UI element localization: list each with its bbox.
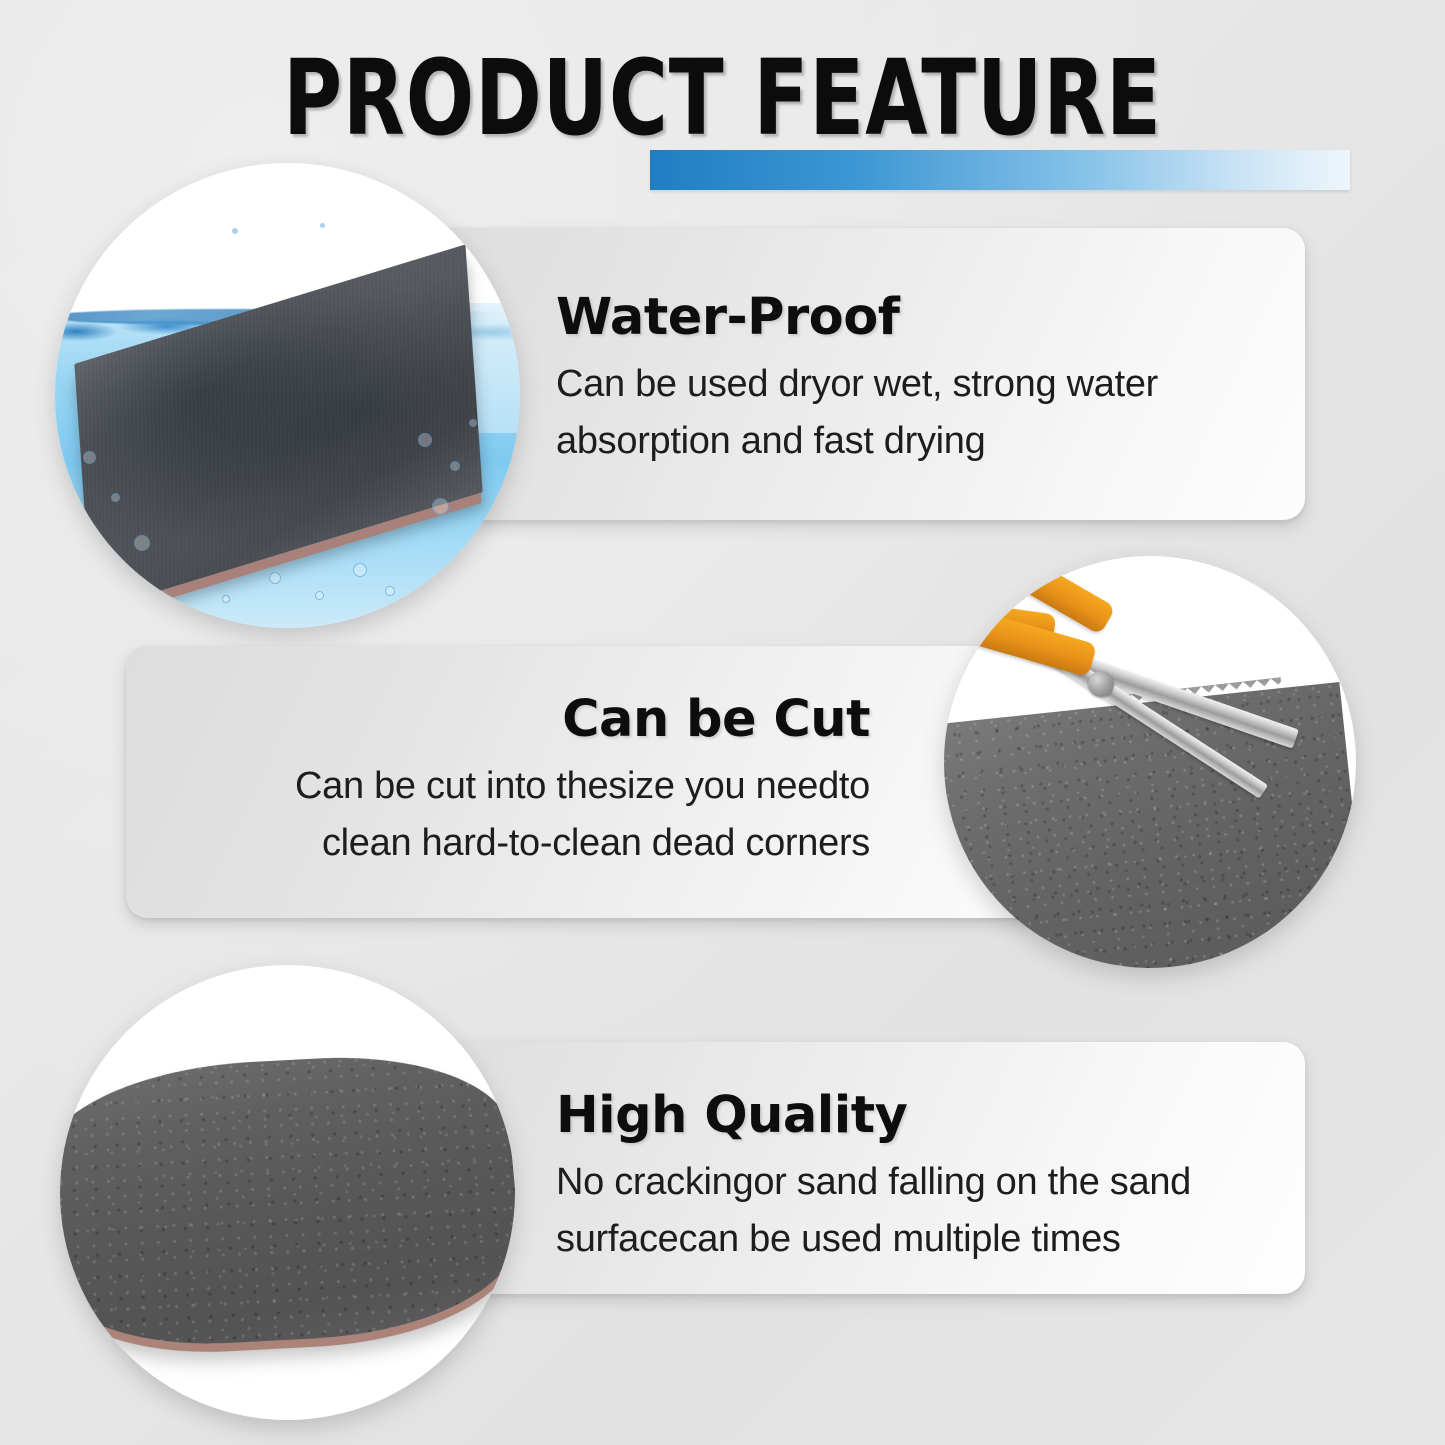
- feature-body-line-2: clean hard-to-clean dead corners: [180, 815, 870, 872]
- feature-text-water-proof: Water-Proof Can be used dryor wet, stron…: [556, 288, 1316, 470]
- page-header: PRODUCT FEATURE: [0, 28, 1445, 178]
- bubble-icon: [111, 493, 120, 502]
- bubble-icon: [134, 535, 150, 551]
- feature-heading: Can be Cut: [180, 690, 870, 750]
- feature-body-line-2: absorption and fast drying: [556, 413, 1316, 470]
- feature-body-line-1: Can be cut into thesize you needto: [180, 758, 870, 815]
- cutting-scene: [944, 556, 1356, 968]
- page-title: PRODUCT FEATURE: [101, 28, 1344, 168]
- water-scene: [55, 163, 520, 628]
- feature-heading: Water-Proof: [556, 288, 1316, 348]
- feature-body-line-2: surfacecan be used multiple times: [556, 1211, 1316, 1268]
- feature-image-water-proof: [55, 163, 520, 628]
- water-droplet-icon: [232, 228, 238, 234]
- bubble-icon: [353, 563, 367, 577]
- bubble-icon: [450, 461, 460, 471]
- bubble-icon: [469, 419, 477, 427]
- feature-text-can-be-cut: Can be Cut Can be cut into thesize you n…: [180, 690, 870, 872]
- feature-heading: High Quality: [556, 1086, 1316, 1146]
- bubble-icon: [269, 572, 281, 584]
- flex-sponge-scene: [60, 965, 515, 1420]
- feature-body-line-1: No crackingor sand falling on the sand: [556, 1154, 1316, 1211]
- bubble-icon: [432, 498, 449, 515]
- sanding-sponge-block: [60, 1049, 515, 1353]
- feature-text-high-quality: High Quality No crackingor sand falling …: [556, 1086, 1316, 1268]
- feature-body-line-1: Can be used dryor wet, strong water: [556, 356, 1316, 413]
- feature-image-high-quality: [60, 965, 515, 1420]
- infographic-canvas: PRODUCT FEATURE: [0, 0, 1445, 1445]
- water-droplet-icon: [320, 223, 325, 228]
- feature-image-can-be-cut: [944, 556, 1356, 968]
- bubble-icon: [418, 433, 432, 447]
